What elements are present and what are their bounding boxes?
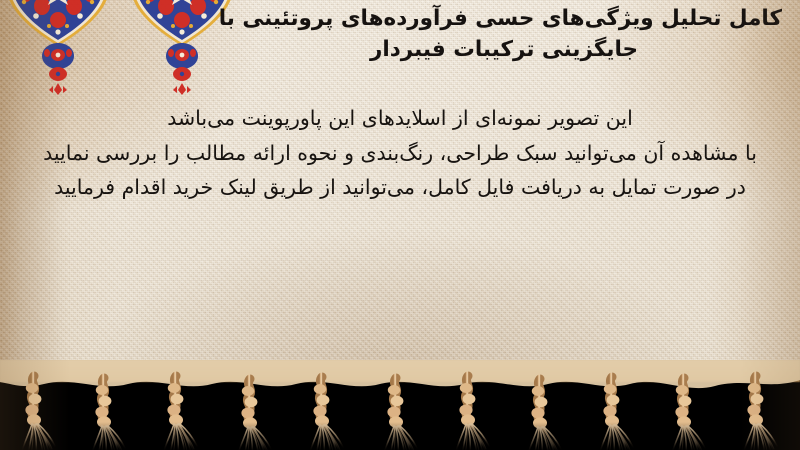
body-line-3: در صورت تمایل به دریافت فایل کامل، می‌تو…: [14, 177, 786, 198]
slide-title: کامل تحلیل ویژگی‌های حسی فرآورده‌های پرو…: [226, 4, 782, 65]
presentation-slide: کامل تحلیل ویژگی‌های حسی فرآورده‌های پرو…: [0, 0, 800, 450]
body-line-1: این تصویر نمونه‌ای از اسلایدهای این پاور…: [14, 108, 786, 129]
slide-title-line-2: جایگزینی ترکیبات فیبردار: [226, 35, 782, 66]
slide-title-line-1: کامل تحلیل ویژگی‌های حسی فرآورده‌های پرو…: [226, 4, 782, 35]
slide-body: این تصویر نمونه‌ای از اسلایدهای این پاور…: [14, 108, 786, 198]
carpet-fringe: [0, 360, 800, 450]
body-line-2: با مشاهده آن می‌توانید سبک طراحی، رنگ‌بن…: [14, 143, 786, 164]
fringe-tassels: [0, 360, 800, 450]
